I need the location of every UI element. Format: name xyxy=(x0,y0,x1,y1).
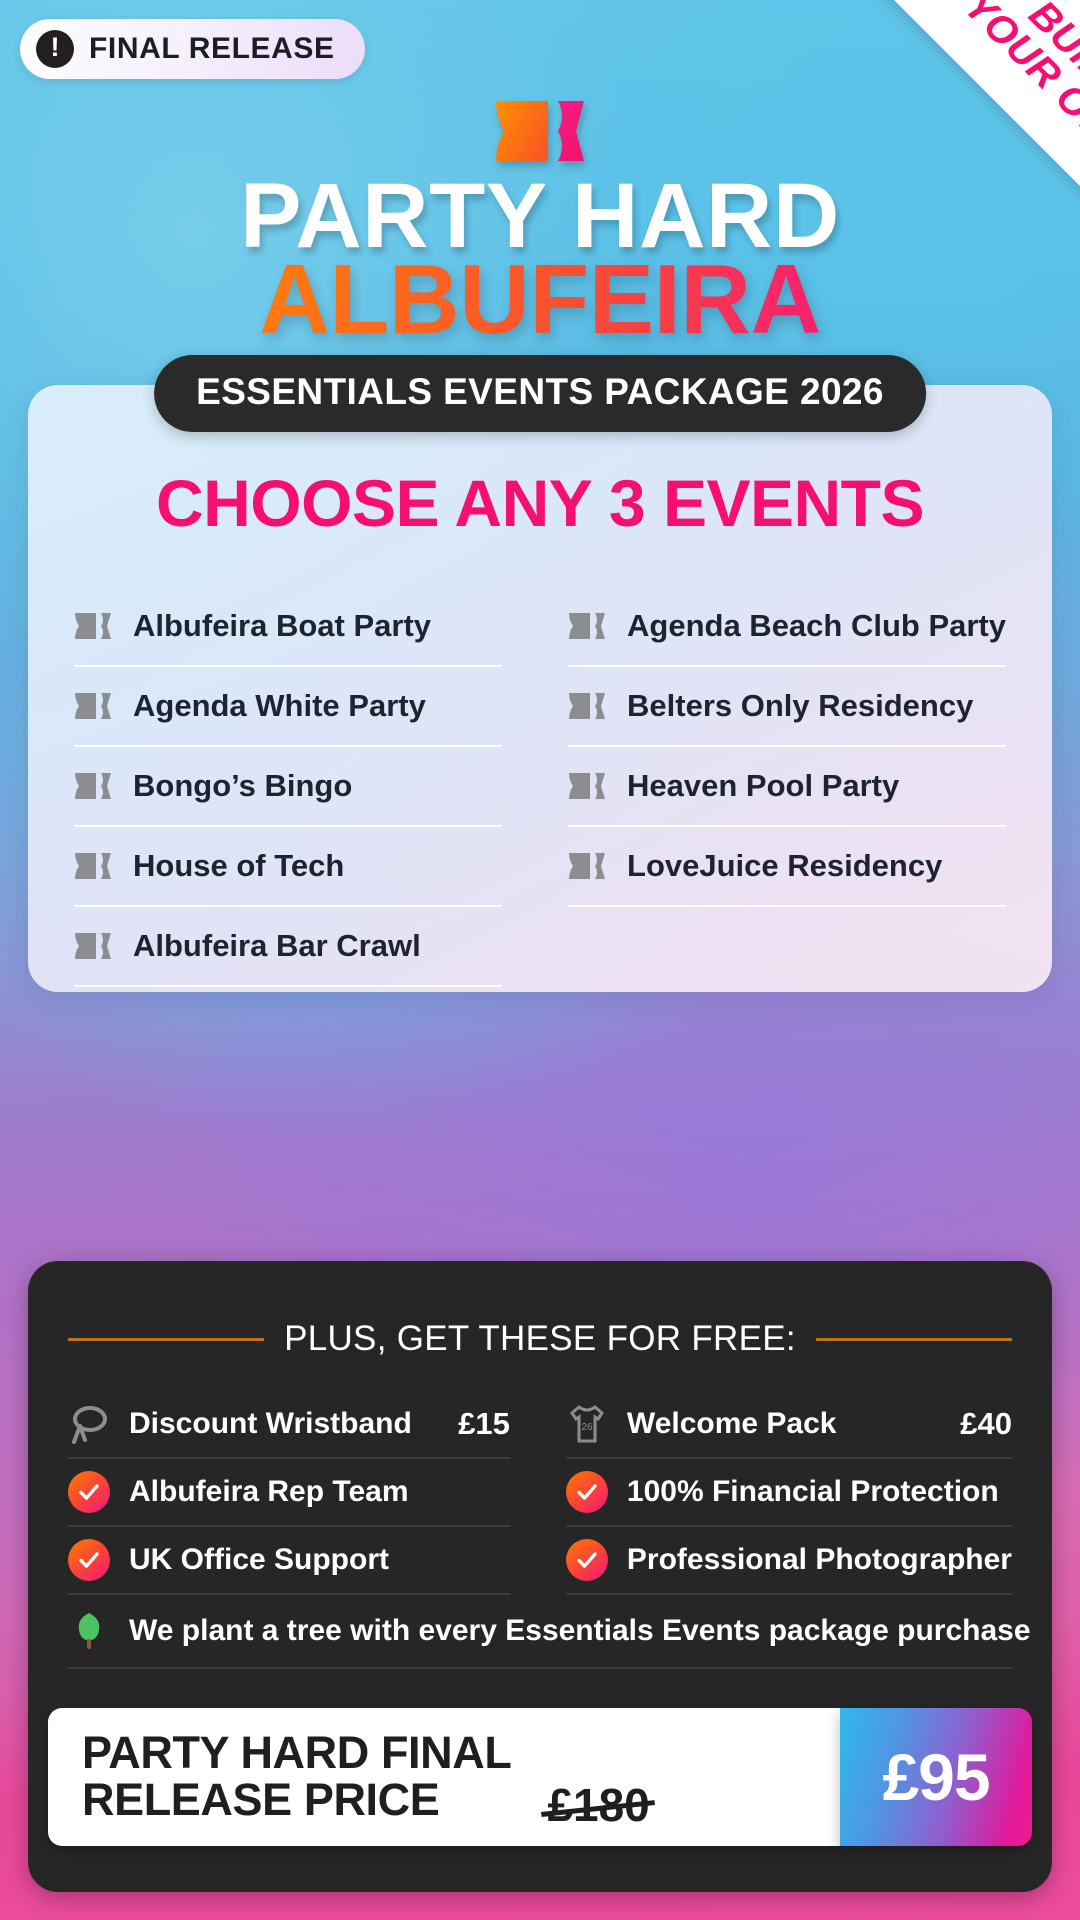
flag-icon xyxy=(74,932,112,960)
extra-item: Discount Wristband £15 xyxy=(68,1391,510,1459)
flag-icon xyxy=(568,612,606,640)
event-label: Belters Only Residency xyxy=(627,688,973,724)
extra-price: £15 xyxy=(458,1406,510,1442)
events-grid: Albufeira Boat Party Agenda Beach Club P… xyxy=(74,587,1006,987)
final-release-badge: ! FINAL RELEASE xyxy=(20,19,365,79)
tshirt-icon: 26 xyxy=(566,1402,608,1446)
event-label: Agenda White Party xyxy=(133,688,426,724)
check-icon xyxy=(68,1471,110,1513)
event-item[interactable]: LoveJuice Residency xyxy=(568,827,1006,907)
extra-item: Albufeira Rep Team xyxy=(68,1459,510,1527)
event-label: Bongo’s Bingo xyxy=(133,768,352,804)
events-card: CHOOSE ANY 3 EVENTS Albufeira Boat Party… xyxy=(28,385,1052,992)
extra-label: 100% Financial Protection xyxy=(627,1475,999,1509)
flag-icon xyxy=(74,852,112,880)
extra-label: Professional Photographer xyxy=(627,1543,1012,1577)
event-item[interactable]: Albufeira Bar Crawl xyxy=(74,907,502,987)
check-icon xyxy=(566,1471,608,1513)
extra-item: Professional Photographer xyxy=(566,1527,1012,1595)
event-item[interactable]: Bongo’s Bingo xyxy=(74,747,502,827)
svg-text:26: 26 xyxy=(581,1422,593,1433)
extra-label: Welcome Pack xyxy=(627,1407,837,1441)
event-label: House of Tech xyxy=(133,848,344,884)
event-label: Agenda Beach Club Party xyxy=(627,608,1006,644)
old-price: £180 xyxy=(547,1778,649,1832)
choose-events-heading: CHOOSE ANY 3 EVENTS xyxy=(74,465,1006,541)
tree-icon xyxy=(68,1609,110,1653)
brand-subtitle: ALBUFEIRA xyxy=(0,253,1080,345)
event-label: Albufeira Boat Party xyxy=(133,608,431,644)
free-extras-heading: PLUS, GET THESE FOR FREE: xyxy=(68,1319,1012,1359)
new-price: £95 xyxy=(882,1739,989,1815)
extra-label: Albufeira Rep Team xyxy=(129,1475,409,1509)
event-item-empty xyxy=(568,907,1006,987)
check-icon xyxy=(68,1539,110,1581)
event-item[interactable]: Heaven Pool Party xyxy=(568,747,1006,827)
wristband-icon xyxy=(68,1402,110,1446)
price-title-line-1: PARTY HARD FINAL xyxy=(82,1730,511,1777)
price-title: PARTY HARD FINAL RELEASE PRICE xyxy=(82,1730,511,1824)
final-release-label: FINAL RELEASE xyxy=(89,32,335,66)
package-title-pill: ESSENTIALS EVENTS PACKAGE 2026 xyxy=(154,355,926,432)
party-hard-flag-logo-icon xyxy=(492,100,588,162)
flag-icon xyxy=(568,852,606,880)
check-icon xyxy=(566,1539,608,1581)
event-item[interactable]: House of Tech xyxy=(74,827,502,907)
brand-block: PARTY HARD ALBUFEIRA xyxy=(0,100,1080,345)
rule-left xyxy=(68,1338,264,1341)
flag-icon xyxy=(568,692,606,720)
new-price-tag: £95 xyxy=(840,1708,1032,1846)
poster-root: BUILD YOUR OWN ! FINAL RELEASE xyxy=(0,0,1080,1920)
extra-label: Discount Wristband xyxy=(129,1407,412,1441)
extra-item: UK Office Support xyxy=(68,1527,510,1595)
extra-item: 26 Welcome Pack £40 xyxy=(566,1391,1012,1459)
flag-icon xyxy=(74,692,112,720)
exclamation-icon: ! xyxy=(36,30,74,68)
extra-price: £40 xyxy=(960,1406,1012,1442)
flag-icon xyxy=(568,772,606,800)
tree-pledge-label: We plant a tree with every Essentials Ev… xyxy=(129,1614,1031,1648)
extra-label: UK Office Support xyxy=(129,1543,389,1577)
event-label: Albufeira Bar Crawl xyxy=(133,928,421,964)
event-label: LoveJuice Residency xyxy=(627,848,942,884)
extra-item: 100% Financial Protection xyxy=(566,1459,1012,1527)
rule-right xyxy=(816,1338,1012,1341)
free-extras-grid: Discount Wristband £15 26 Welcome Pack £… xyxy=(68,1391,1012,1669)
flag-icon xyxy=(74,772,112,800)
price-title-line-2: RELEASE PRICE xyxy=(82,1777,511,1824)
event-label: Heaven Pool Party xyxy=(627,768,899,804)
event-item[interactable]: Agenda Beach Club Party xyxy=(568,587,1006,667)
event-item[interactable]: Agenda White Party xyxy=(74,667,502,747)
free-extras-heading-text: PLUS, GET THESE FOR FREE: xyxy=(284,1319,796,1359)
event-item[interactable]: Albufeira Boat Party xyxy=(74,587,502,667)
tree-pledge-row: We plant a tree with every Essentials Ev… xyxy=(68,1595,1012,1669)
price-banner: PARTY HARD FINAL RELEASE PRICE £180 xyxy=(48,1708,840,1846)
flag-icon xyxy=(74,612,112,640)
event-item[interactable]: Belters Only Residency xyxy=(568,667,1006,747)
